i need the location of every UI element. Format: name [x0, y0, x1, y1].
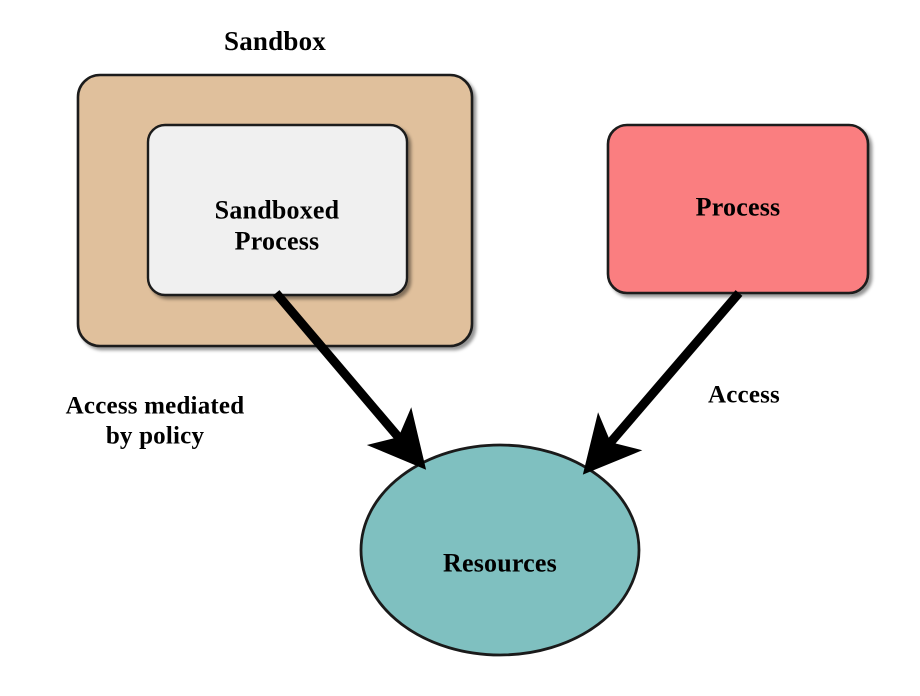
sandboxed-process-box[interactable]	[148, 125, 407, 295]
arrow-process-to-resources	[592, 293, 739, 464]
diagram-graphics	[0, 0, 920, 696]
process-box[interactable]	[608, 125, 868, 293]
diagram-canvas: Sandbox Sandboxed Process Process Resour…	[0, 0, 920, 696]
resources-ellipse[interactable]	[361, 445, 639, 655]
